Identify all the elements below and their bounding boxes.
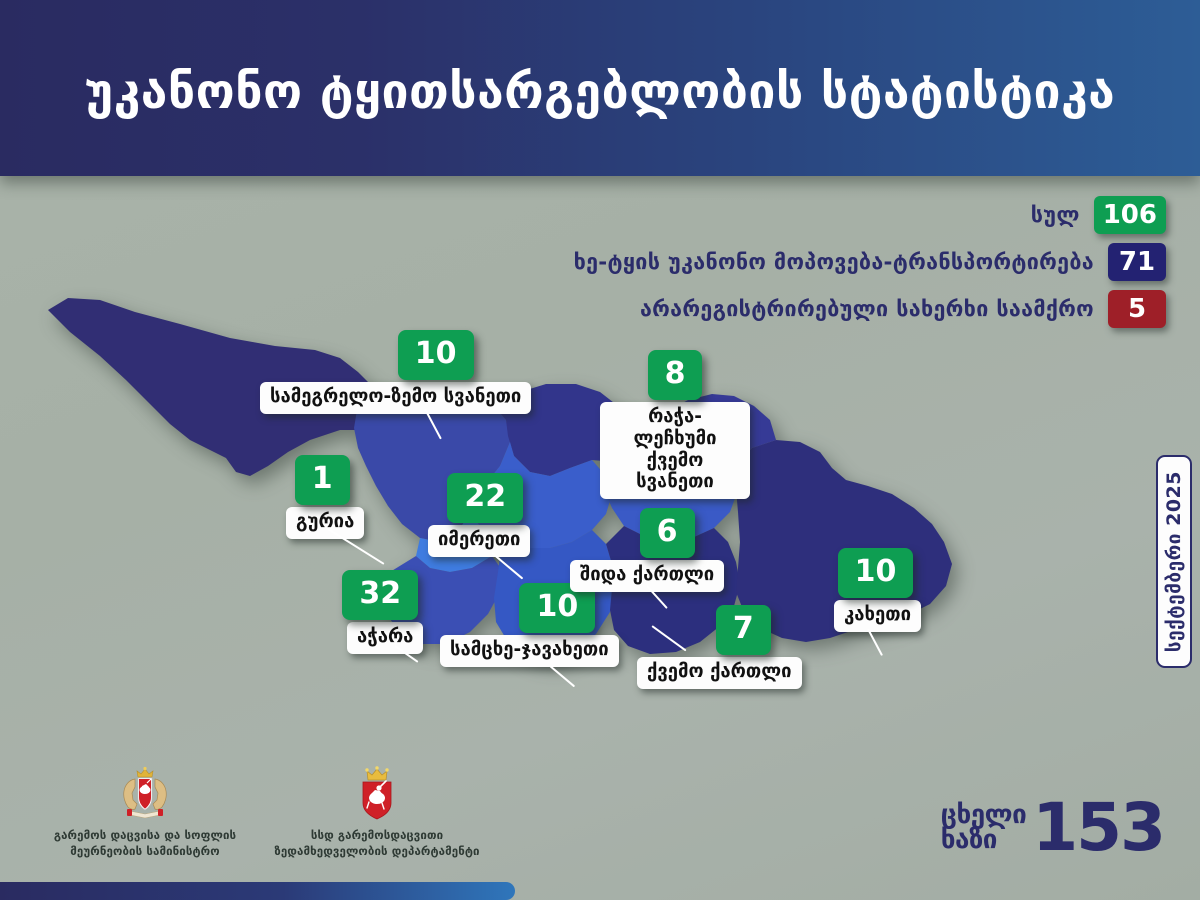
infographic-page: უკანონო ტყითსარგებლობის სტატისტიკა სულ 1…: [0, 0, 1200, 900]
date-tab: სექტემბერი 2025: [1156, 455, 1192, 668]
logo-caption-department: სსდ გარემოსდაცვითი ზედამხედველობის დეპარ…: [272, 827, 482, 860]
georgia-coat-of-arms-icon: [116, 766, 174, 822]
map-marker-kvemo-kartli[interactable]: 7 ქვემო ქართლი: [685, 605, 802, 689]
logo-block-department: სსდ გარემოსდაცვითი ზედამხედველობის დეპარ…: [272, 766, 482, 860]
map-marker-label-samegrelo: სამეგრელო-ზემო სვანეთი: [260, 382, 531, 414]
map-marker-label-adjara: აჭარა: [347, 622, 423, 654]
legend-label-total: სულ: [1031, 203, 1080, 228]
legend-badge-unregistered-sawmill: 5: [1108, 290, 1166, 328]
map-marker-value-adjara: 32: [342, 570, 418, 620]
map-marker-value-guria: 1: [295, 455, 350, 505]
map-marker-samegrelo[interactable]: 10 სამეგრელო-ზემო სვანეთი: [340, 330, 531, 414]
map-marker-shida-kartli[interactable]: 6 შიდა ქართლი: [610, 508, 724, 592]
map-marker-imereti[interactable]: 22 იმერეთი: [440, 473, 530, 557]
map-marker-value-racha: 8: [648, 350, 703, 400]
legend-badge-total: 106: [1094, 196, 1166, 234]
hotline-number: 153: [1032, 800, 1164, 856]
map-marker-value-shida-kartli: 6: [640, 508, 695, 558]
hotline-logo: ცხელი ხაზი 153: [941, 800, 1164, 856]
georgia-map-svg: [40, 280, 1110, 780]
map-marker-value-samegrelo: 10: [398, 330, 474, 380]
legend-row-total: სულ 106: [366, 196, 1166, 234]
map-marker-label-imereti: იმერეთი: [428, 525, 530, 557]
date-tab-label: სექტემბერი 2025: [1163, 471, 1185, 652]
legend-badge-illegal-logging: 71: [1108, 243, 1166, 281]
map-marker-value-kvemo-kartli: 7: [716, 605, 771, 655]
map-marker-label-racha: რაჭა-ლეჩხუმიქვემო სვანეთი: [600, 402, 750, 499]
map-marker-samtskhe[interactable]: 10 სამცხე-ჯავახეთი: [496, 583, 619, 667]
logo-caption-ministry: გარემოს დაცვისა და სოფლის მეურნეობის სამ…: [45, 827, 245, 860]
map-marker-adjara[interactable]: 32 აჭარა: [337, 570, 423, 654]
map-marker-value-kakheti: 10: [838, 548, 914, 598]
georgia-map: 10 სამეგრელო-ზემო სვანეთი 8 რაჭა-ლეჩხუმი…: [40, 280, 1110, 780]
environmental-supervision-emblem-icon: [354, 766, 400, 822]
logo-block-ministry: გარემოს დაცვისა და სოფლის მეურნეობის სამ…: [45, 766, 245, 860]
map-marker-value-imereti: 22: [447, 473, 523, 523]
map-marker-label-kakheti: კახეთი: [834, 600, 921, 632]
map-marker-kakheti[interactable]: 10 კახეთი: [830, 548, 921, 632]
legend-label-illegal-logging: ხე-ტყის უკანონო მოპოვება-ტრანსპორტირება: [574, 250, 1094, 275]
header-banner: უკანონო ტყითსარგებლობის სტატისტიკა: [0, 0, 1200, 176]
hotline-words: ცხელი ხაზი: [941, 803, 1026, 853]
map-marker-label-guria: გურია: [286, 507, 364, 539]
map-marker-label-samtskhe: სამცხე-ჯავახეთი: [440, 635, 619, 667]
map-marker-label-kvemo-kartli: ქვემო ქართლი: [637, 657, 802, 689]
map-marker-guria[interactable]: 1 გურია: [280, 455, 364, 539]
page-title: უკანონო ტყითსარგებლობის სტატისტიკა: [85, 58, 1116, 119]
map-marker-racha[interactable]: 8 რაჭა-ლეჩხუმიქვემო სვანეთი: [600, 350, 750, 499]
legend-row-illegal-logging: ხე-ტყის უკანონო მოპოვება-ტრანსპორტირება …: [366, 243, 1166, 281]
bottom-accent-bar: [0, 882, 515, 900]
